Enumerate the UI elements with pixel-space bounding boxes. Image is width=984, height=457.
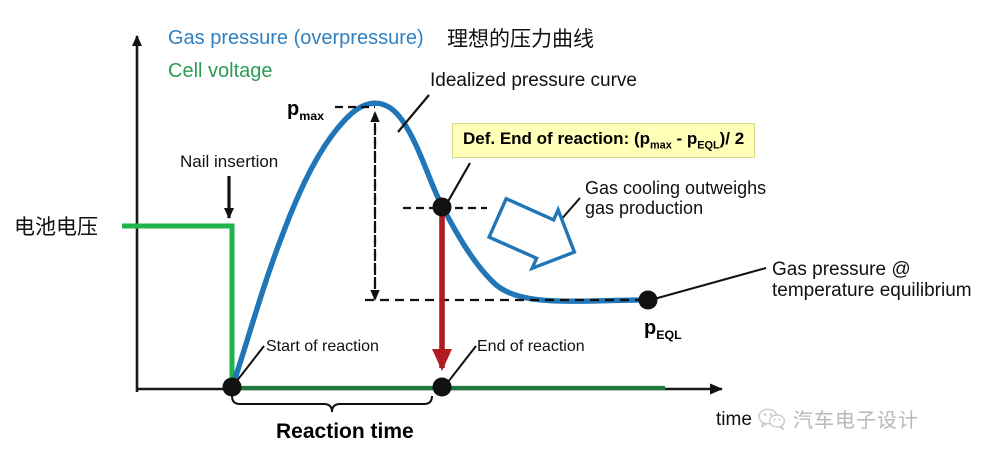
annotation-gas-pressure-line2: temperature equilibrium [772, 280, 972, 301]
annotation-gas-cooling-line2: gas production [585, 198, 766, 218]
annotation-gas-cooling-line1: Gas cooling outweighs [585, 178, 766, 198]
definition-suffix: )/ 2 [720, 129, 745, 148]
cooling-block-arrow [485, 189, 588, 282]
definition-sub-eql: EQL [697, 139, 719, 151]
annotation-idealized-curve: Idealized pressure curve [430, 70, 637, 91]
chinese-title: 理想的压力曲线 [447, 28, 594, 52]
watermark: 汽车电子设计 [758, 404, 919, 433]
label-reaction-time: Reaction time [276, 420, 414, 444]
pressure-curve-svg [0, 0, 984, 457]
axis-label-time: time [716, 409, 752, 430]
label-pmax-p: p [287, 98, 299, 120]
leader-gas-pressure-eq [654, 268, 766, 299]
diagram-canvas: Gas pressure (overpressure) Cell voltage… [0, 0, 984, 457]
cell-voltage-trace [122, 226, 665, 388]
reaction-time-brace [232, 396, 432, 412]
definition-prefix: Def. End of reaction: (p [463, 129, 650, 148]
definition-sub-max: max [650, 139, 672, 151]
annotation-gas-cooling: Gas cooling outweighs gas production [585, 178, 766, 218]
legend-gas-pressure: Gas pressure (overpressure) [168, 27, 424, 49]
annotation-start-of-reaction: Start of reaction [266, 338, 379, 356]
dot-end-of-reaction [433, 378, 452, 397]
chinese-axis-left-label: 电池电压 [14, 216, 98, 240]
annotation-gas-pressure-line1: Gas pressure @ [772, 259, 972, 280]
definition-middle: - p [672, 129, 698, 148]
leader-definition-box [446, 163, 470, 205]
label-peql-p: p [644, 317, 656, 339]
wechat-icon [758, 408, 786, 430]
definition-callout-box: Def. End of reaction: (pmax - pEQL)/ 2 [452, 123, 755, 158]
dot-start-of-reaction [223, 378, 242, 397]
leader-end-of-reaction [448, 346, 476, 382]
annotation-gas-pressure-equilibrium: Gas pressure @ temperature equilibrium [772, 259, 972, 302]
annotation-nail-insertion: Nail insertion [180, 152, 278, 171]
label-peql-sub: EQL [656, 328, 681, 342]
dot-mid-pressure [433, 198, 452, 217]
label-pmax: pmax [287, 98, 324, 124]
watermark-text: 汽车电子设计 [793, 404, 919, 433]
label-pmax-sub: max [299, 109, 324, 123]
legend-cell-voltage: Cell voltage [168, 60, 273, 82]
dot-peql [639, 291, 658, 310]
label-peql: pEQL [644, 317, 682, 343]
leader-idealized-curve [398, 95, 429, 132]
annotation-end-of-reaction: End of reaction [477, 338, 585, 356]
